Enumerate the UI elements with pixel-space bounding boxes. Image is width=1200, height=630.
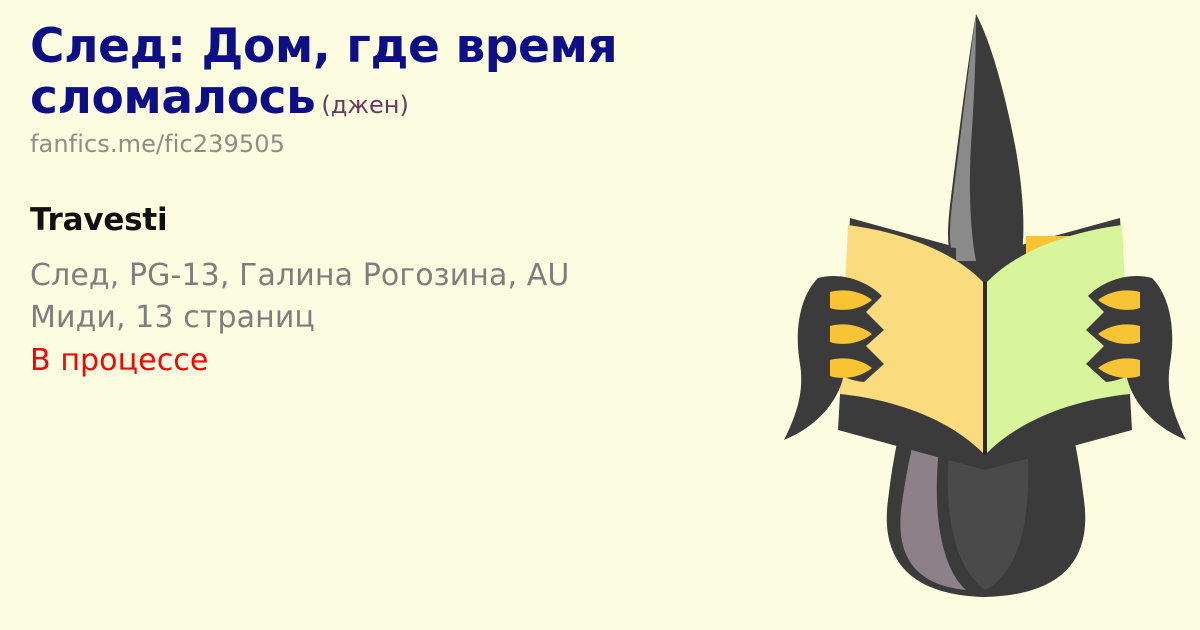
metadata-line-size: Миди, 13 страниц [30, 297, 810, 340]
status-badge: В процессе [30, 340, 810, 383]
metadata-line-characters: След, PG-13, Галина Рогозина, AU [30, 255, 810, 298]
fic-url[interactable]: fanfics.me/fic239505 [30, 130, 810, 158]
page-title: След: Дом, где время сломалось(джен) [30, 22, 810, 124]
fic-genre-tag: (джен) [321, 91, 408, 119]
text-column: След: Дом, где время сломалось(джен) fan… [30, 22, 810, 382]
metadata-block: След, PG-13, Галина Рогозина, AU Миди, 1… [30, 255, 810, 383]
book-spine [983, 282, 987, 455]
witch-reading-book-illustration [780, 0, 1200, 630]
fanfic-preview-card: След: Дом, где время сломалось(джен) fan… [0, 0, 1200, 630]
fandom-title: Travesti [30, 202, 810, 238]
